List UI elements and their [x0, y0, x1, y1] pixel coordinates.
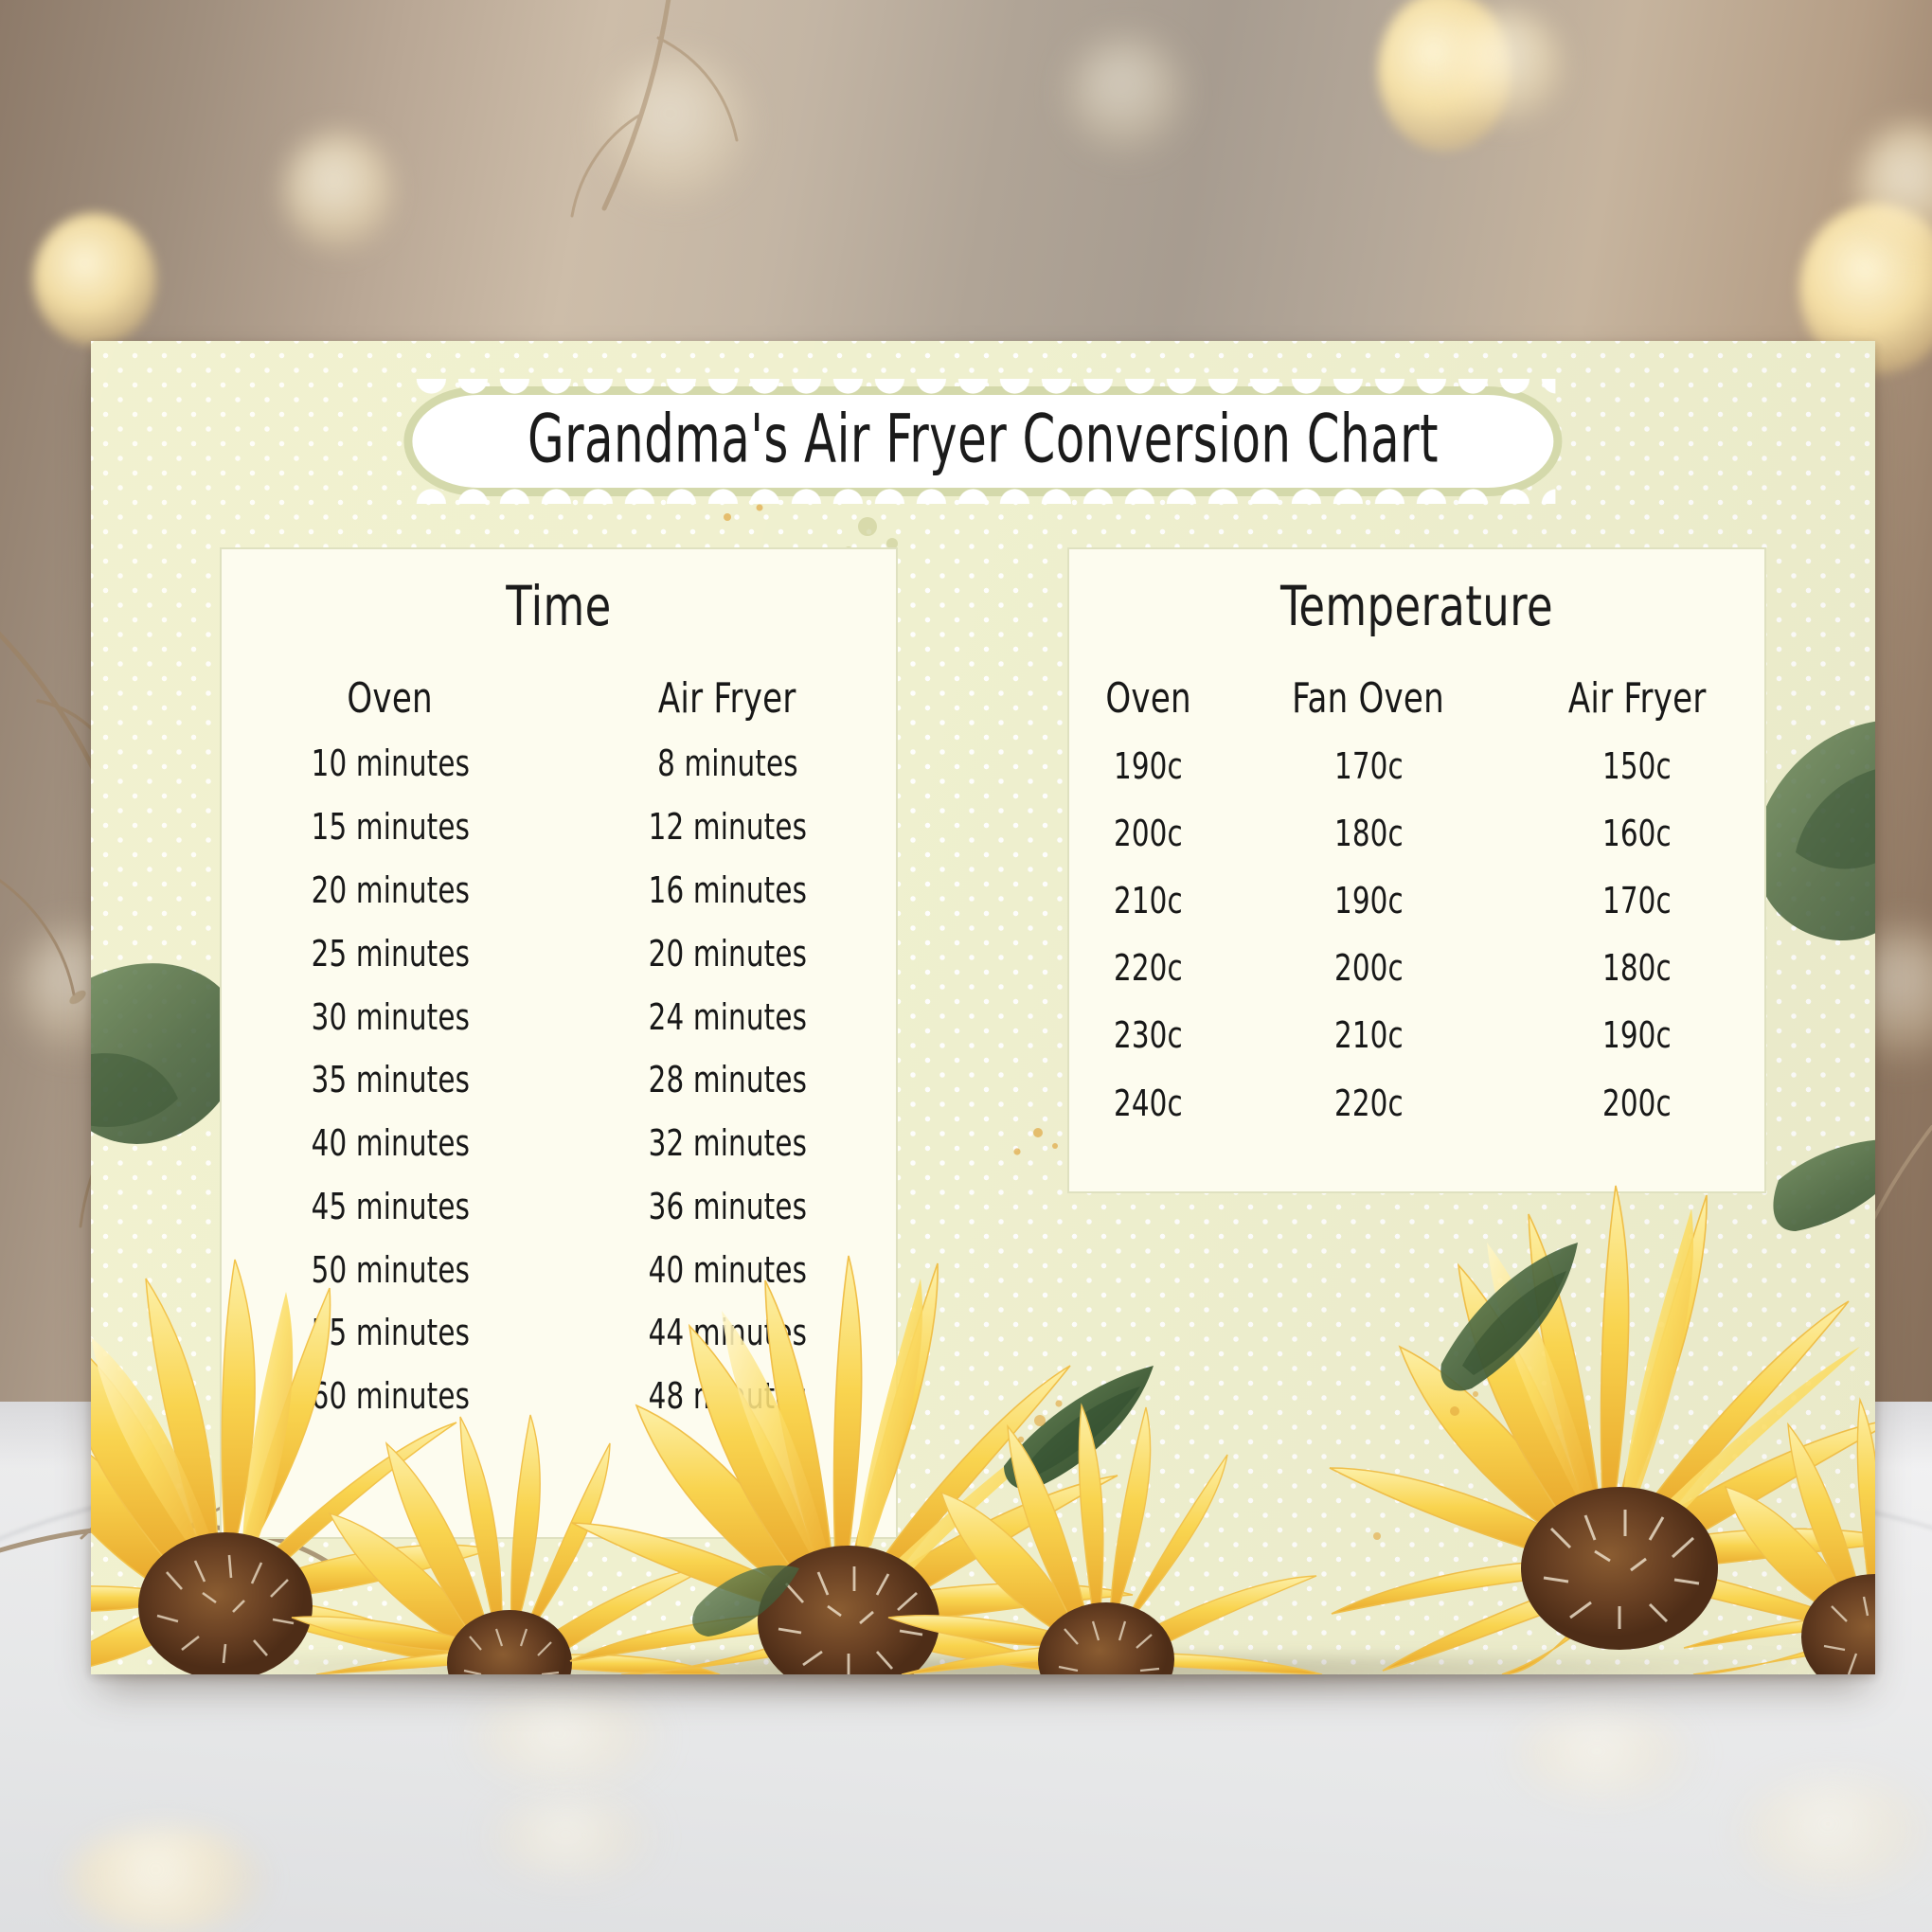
table-cell: 10 minutes: [222, 732, 559, 796]
table-cell: 50 minutes: [222, 1238, 559, 1301]
table-cell: 190c: [1227, 867, 1509, 934]
table-cell: 190c: [1510, 1002, 1764, 1069]
table-cell: 220c: [1227, 1069, 1509, 1136]
table-row: 190c170c150c: [1069, 732, 1764, 799]
marble-reflection: [1743, 1780, 1932, 1885]
sunflower-bloom: [1330, 1139, 1875, 1674]
marble-reflection: [1515, 1714, 1695, 1795]
table-row: 30 minutes24 minutes: [222, 985, 896, 1048]
table-cell: 200c: [1069, 799, 1227, 867]
column-header-fan-oven: Fan Oven: [1227, 638, 1509, 732]
sunflower-bloom: [1684, 1400, 1875, 1674]
table-cell: 28 minutes: [559, 1048, 896, 1112]
marble-reflection: [66, 1828, 265, 1932]
marble-reflection: [474, 1695, 663, 1780]
table-cell: 20 minutes: [222, 859, 559, 922]
sunflower-bloom: [888, 1405, 1322, 1674]
table-cell: 35 minutes: [222, 1048, 559, 1112]
temperature-table-panel: Temperature Oven Fan Oven Air Fryer 190c…: [1067, 547, 1766, 1193]
table-cell: 190c: [1069, 732, 1227, 799]
column-header-air-fryer: Air Fryer: [559, 638, 896, 732]
table-cell: 210c: [1069, 867, 1227, 934]
table-cell: 170c: [1227, 732, 1509, 799]
table-cell: 160c: [1510, 799, 1764, 867]
temperature-conversion-table: Oven Fan Oven Air Fryer 190c170c150c200c…: [1069, 638, 1764, 1136]
table-cell: 48 minutes: [559, 1365, 896, 1428]
column-header-oven: Oven: [1069, 638, 1227, 732]
time-conversion-table: Oven Air Fryer 10 minutes8 minutes15 min…: [222, 638, 896, 1428]
table-cell: 220c: [1069, 935, 1227, 1002]
table-cell: 150c: [1510, 732, 1764, 799]
table-row: 15 minutes12 minutes: [222, 796, 896, 859]
card-drop-shadow: [142, 1659, 1837, 1701]
table-cell: 45 minutes: [222, 1174, 559, 1238]
table-row: 40 minutes32 minutes: [222, 1112, 896, 1175]
conversion-chart-card: Grandma's Air Fryer Conversion Chart Tim…: [91, 341, 1875, 1674]
table-cell: 15 minutes: [222, 796, 559, 859]
page-title: Grandma's Air Fryer Conversion Chart: [528, 404, 1439, 474]
table-cell: 200c: [1227, 935, 1509, 1002]
table-cell: 24 minutes: [559, 985, 896, 1048]
table-cell: 32 minutes: [559, 1112, 896, 1175]
paint-splatter: [1018, 1391, 1478, 1540]
table-row: 35 minutes28 minutes: [222, 1048, 896, 1112]
table-cell: 60 minutes: [222, 1365, 559, 1428]
table-row: 50 minutes40 minutes: [222, 1238, 896, 1301]
table-cell: 20 minutes: [559, 921, 896, 985]
table-row: 220c200c180c: [1069, 935, 1764, 1002]
table-header-row: Oven Fan Oven Air Fryer: [1069, 638, 1764, 732]
table-row: 210c190c170c: [1069, 867, 1764, 934]
table-row: 10 minutes8 minutes: [222, 732, 896, 796]
temperature-panel-title: Temperature: [1118, 574, 1715, 638]
photo-scene: Grandma's Air Fryer Conversion Chart Tim…: [0, 0, 1932, 1932]
table-cell: 180c: [1510, 935, 1764, 1002]
table-cell: 240c: [1069, 1069, 1227, 1136]
table-cell: 44 minutes: [559, 1301, 896, 1365]
table-cell: 36 minutes: [559, 1174, 896, 1238]
table-cell: 200c: [1510, 1069, 1764, 1136]
dried-twig-top: [530, 0, 814, 313]
table-row: 55 minutes44 minutes: [222, 1301, 896, 1365]
table-row: 25 minutes20 minutes: [222, 921, 896, 985]
table-header-row: Oven Air Fryer: [222, 638, 896, 732]
bokeh-light: [33, 213, 156, 346]
table-row: 200c180c160c: [1069, 799, 1764, 867]
table-cell: 30 minutes: [222, 985, 559, 1048]
time-panel-title: Time: [269, 574, 849, 638]
table-cell: 40 minutes: [222, 1112, 559, 1175]
table-cell: 180c: [1227, 799, 1509, 867]
table-cell: 8 minutes: [559, 732, 896, 796]
column-header-air-fryer: Air Fryer: [1510, 638, 1764, 732]
table-cell: 55 minutes: [222, 1301, 559, 1365]
time-table-panel: Time Oven Air Fryer 10 minutes8 minutes1…: [220, 547, 898, 1539]
table-row: 240c220c200c: [1069, 1069, 1764, 1136]
marble-reflection: [492, 1799, 653, 1875]
table-cell: 230c: [1069, 1002, 1227, 1069]
table-cell: 16 minutes: [559, 859, 896, 922]
title-banner: Grandma's Air Fryer Conversion Chart: [403, 386, 1562, 496]
bokeh-light: [1070, 38, 1184, 152]
bokeh-light: [284, 133, 393, 251]
column-header-oven: Oven: [222, 638, 559, 732]
table-cell: 12 minutes: [559, 796, 896, 859]
table-cell: 40 minutes: [559, 1238, 896, 1301]
table-row: 230c210c190c: [1069, 1002, 1764, 1069]
table-row: 20 minutes16 minutes: [222, 859, 896, 922]
table-cell: 170c: [1510, 867, 1764, 934]
table-cell: 210c: [1227, 1002, 1509, 1069]
table-row: 45 minutes36 minutes: [222, 1174, 896, 1238]
table-row: 60 minutes48 minutes: [222, 1365, 896, 1428]
table-cell: 25 minutes: [222, 921, 559, 985]
bokeh-light: [1449, 9, 1563, 123]
